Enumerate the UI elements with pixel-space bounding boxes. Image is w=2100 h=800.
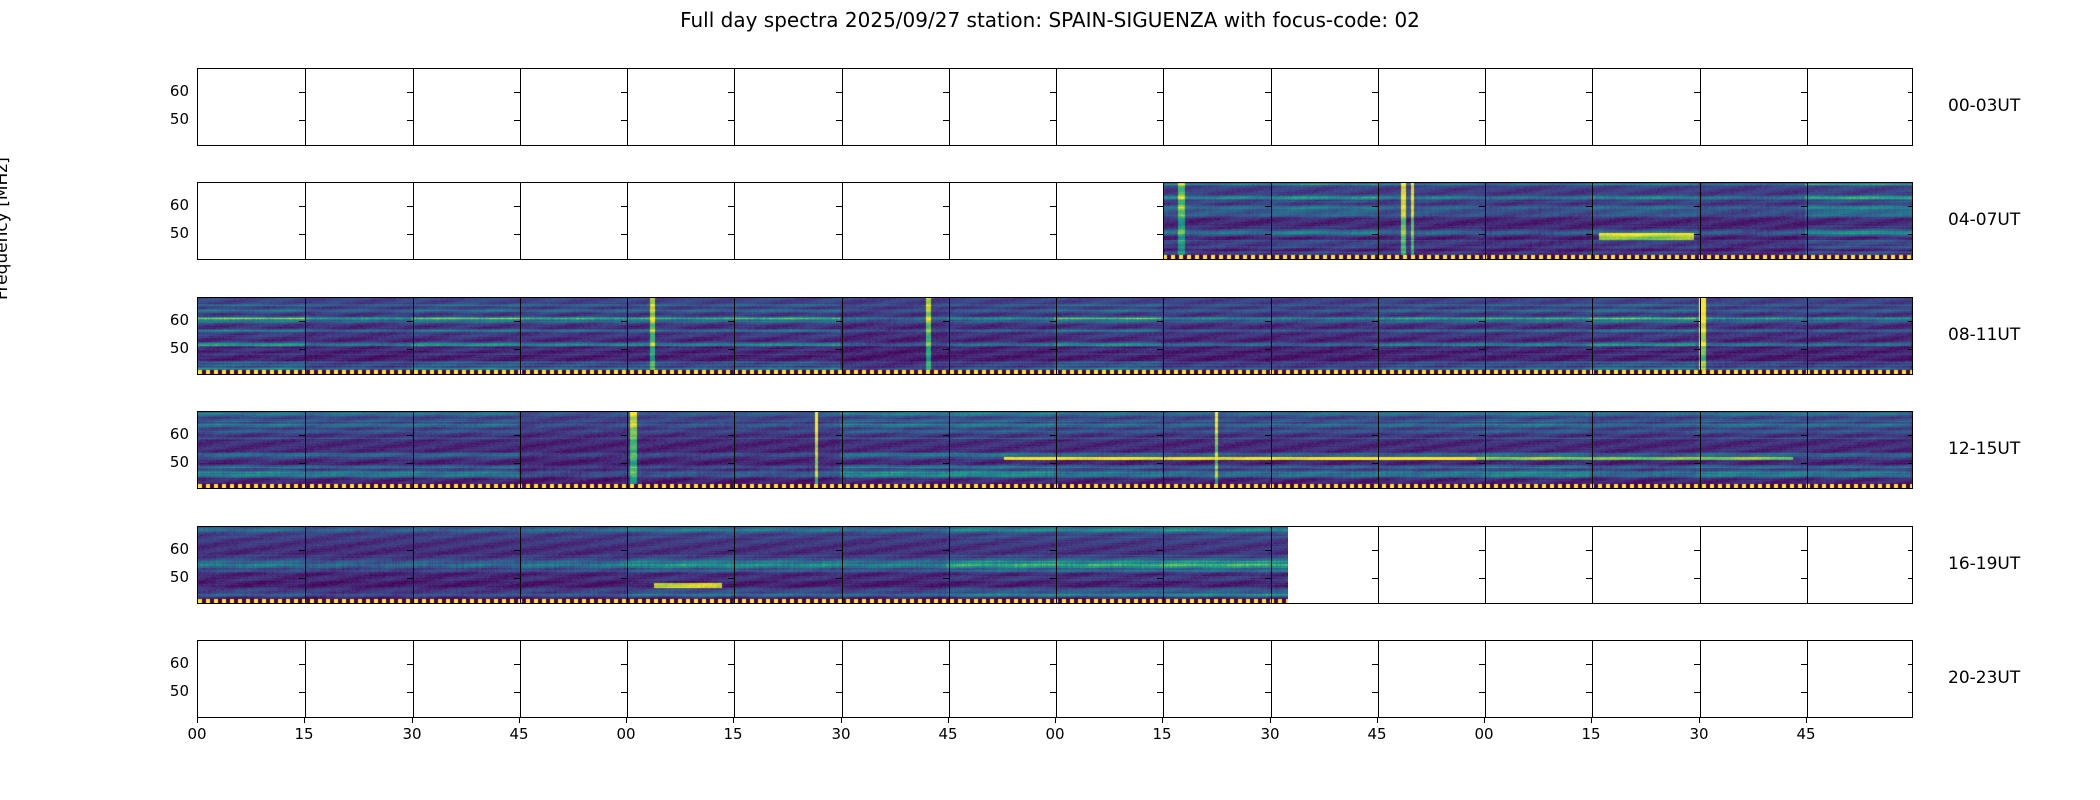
- y-tick-mark: [1694, 664, 1700, 665]
- panel-separator: [627, 641, 628, 717]
- y-axis-title: Frequency [MHz]: [0, 157, 12, 300]
- panel-separator: [1378, 183, 1379, 259]
- panel-separator: [1592, 183, 1593, 259]
- y-tick-mark: [728, 234, 734, 235]
- panel-separator: [413, 298, 414, 374]
- y-tick-mark: [621, 321, 627, 322]
- y-tick-mark: [1265, 435, 1271, 436]
- y-tick-mark: [1479, 692, 1485, 693]
- y-tick-mark: [1586, 120, 1592, 121]
- panel-separator: [1163, 527, 1164, 603]
- panel-separator: [1592, 641, 1593, 717]
- y-tick-mark: [728, 463, 734, 464]
- spectrogram-image: [1163, 183, 1913, 259]
- panel-separator: [1700, 527, 1701, 603]
- y-tick-mark: [1157, 435, 1163, 436]
- spectrogram-row-20-23ut[interactable]: [197, 640, 1913, 718]
- y-tick-mark: [407, 349, 413, 350]
- y-tick-mark: [943, 349, 949, 350]
- y-tick-mark: [836, 349, 842, 350]
- panel-separator: [305, 69, 306, 145]
- panel-separator: [949, 412, 950, 488]
- y-tick-mark: [943, 234, 949, 235]
- panel-separator: [1271, 641, 1272, 717]
- x-tick-mark: [519, 718, 520, 723]
- y-tick-mark: [1050, 664, 1056, 665]
- y-tick-mark: [836, 206, 842, 207]
- y-tick-mark: [728, 550, 734, 551]
- y-tick-mark: [621, 435, 627, 436]
- x-tick-label: 30: [1689, 725, 1708, 743]
- y-tick-mark: [1265, 206, 1271, 207]
- panel-separator: [627, 183, 628, 259]
- y-tick-mark: [943, 321, 949, 322]
- y-tick-mark: [1908, 435, 1913, 436]
- y-tick-mark: [943, 664, 949, 665]
- y-tick-mark: [299, 435, 305, 436]
- spectrogram-row-16-19ut[interactable]: [197, 526, 1913, 604]
- y-tick-mark: [299, 349, 305, 350]
- y-tick-mark: [1372, 206, 1378, 207]
- row-label-12-15ut: 12-15UT: [1948, 439, 2020, 459]
- panel-separator: [305, 183, 306, 259]
- y-tick-mark: [1050, 692, 1056, 693]
- y-tick-mark: [1586, 234, 1592, 235]
- y-tick-mark: [514, 578, 520, 579]
- y-tick-mark: [407, 664, 413, 665]
- y-tick-mark: [407, 692, 413, 693]
- y-tick-mark: [1479, 435, 1485, 436]
- y-tick-mark: [943, 578, 949, 579]
- y-tick-mark: [514, 550, 520, 551]
- panel-separator: [1271, 527, 1272, 603]
- x-tick-mark: [626, 718, 627, 723]
- panel-separator: [1807, 527, 1808, 603]
- x-tick-label: 30: [402, 725, 421, 743]
- y-tick-mark: [1050, 234, 1056, 235]
- panel-separator: [1056, 412, 1057, 488]
- y-tick-mark: [1372, 120, 1378, 121]
- x-tick-label: 30: [1260, 725, 1279, 743]
- y-tick-mark: [1050, 578, 1056, 579]
- panel-separator: [734, 183, 735, 259]
- spectrogram-row-00-03ut[interactable]: [197, 68, 1913, 146]
- y-tick-mark: [1265, 578, 1271, 579]
- y-tick-mark: [1265, 92, 1271, 93]
- y-tick-mark: [1586, 664, 1592, 665]
- y-tick-mark: [728, 664, 734, 665]
- y-tick-mark: [728, 692, 734, 693]
- panel-separator: [842, 183, 843, 259]
- y-tick-mark: [728, 321, 734, 322]
- panel-separator: [842, 527, 843, 603]
- y-tick-mark: [621, 206, 627, 207]
- y-tick-mark: [1694, 435, 1700, 436]
- x-axis: 00153045001530450015304500153045: [197, 718, 1913, 768]
- panel-separator: [520, 298, 521, 374]
- panel-separator: [1378, 298, 1379, 374]
- y-tick-mark: [621, 92, 627, 93]
- y-tick-mark: [1908, 234, 1913, 235]
- y-tick-mark: [514, 321, 520, 322]
- panel-separator: [1163, 69, 1164, 145]
- x-tick-mark: [1055, 718, 1056, 723]
- panel-separator: [305, 527, 306, 603]
- x-tick-label: 30: [831, 725, 850, 743]
- y-tick-mark: [407, 92, 413, 93]
- x-tick-label: 15: [294, 725, 313, 743]
- panel-separator: [1378, 641, 1379, 717]
- y-tick-mark: [1694, 349, 1700, 350]
- y-tick-mark: [943, 206, 949, 207]
- y-tick-mark: [514, 92, 520, 93]
- y-tick-mark: [1157, 578, 1163, 579]
- panel-separator: [627, 412, 628, 488]
- y-tick-label: 50: [157, 224, 189, 242]
- y-tick-mark: [1586, 550, 1592, 551]
- panel-separator: [1807, 183, 1808, 259]
- y-tick-mark: [407, 435, 413, 436]
- panel-separator: [413, 412, 414, 488]
- y-tick-mark: [1694, 234, 1700, 235]
- y-tick-mark: [1372, 349, 1378, 350]
- y-tick-mark: [407, 578, 413, 579]
- y-tick-mark: [1479, 664, 1485, 665]
- panel-separator: [734, 641, 735, 717]
- panel-separator: [1163, 412, 1164, 488]
- y-tick-mark: [1801, 349, 1807, 350]
- y-tick-mark: [943, 550, 949, 551]
- x-tick-label: 00: [616, 725, 635, 743]
- y-tick-mark: [1586, 321, 1592, 322]
- y-tick-mark: [1586, 578, 1592, 579]
- x-tick-mark: [841, 718, 842, 723]
- y-tick-mark: [1801, 435, 1807, 436]
- y-tick-label: 50: [157, 682, 189, 700]
- spectrogram-row-08-11ut[interactable]: [197, 297, 1913, 375]
- x-tick-label: 00: [1474, 725, 1493, 743]
- y-tick-mark: [621, 463, 627, 464]
- panel-separator: [949, 69, 950, 145]
- panel-separator: [734, 69, 735, 145]
- y-tick-mark: [621, 692, 627, 693]
- y-tick-mark: [1801, 321, 1807, 322]
- spectrogram-row-04-07ut[interactable]: [197, 182, 1913, 260]
- y-tick-mark: [1801, 578, 1807, 579]
- y-tick-mark: [621, 120, 627, 121]
- panel-separator: [734, 298, 735, 374]
- y-tick-mark: [1372, 321, 1378, 322]
- y-tick-mark: [1694, 321, 1700, 322]
- y-tick-mark: [1801, 234, 1807, 235]
- y-tick-mark: [1801, 463, 1807, 464]
- y-tick-mark: [299, 550, 305, 551]
- y-tick-mark: [299, 664, 305, 665]
- y-tick-mark: [1050, 349, 1056, 350]
- panel-separator: [842, 412, 843, 488]
- panel-separator: [305, 298, 306, 374]
- y-tick-mark: [1157, 92, 1163, 93]
- y-tick-mark: [1050, 435, 1056, 436]
- panel-separator: [520, 183, 521, 259]
- y-tick-mark: [943, 435, 949, 436]
- y-tick-mark: [1157, 321, 1163, 322]
- x-tick-mark: [1591, 718, 1592, 723]
- y-tick-label: 60: [157, 654, 189, 672]
- x-tick-label: 00: [187, 725, 206, 743]
- y-tick-mark: [1694, 692, 1700, 693]
- y-tick-mark: [299, 463, 305, 464]
- x-tick-mark: [1377, 718, 1378, 723]
- y-tick-mark: [407, 463, 413, 464]
- panel-separator: [1700, 69, 1701, 145]
- y-tick-mark: [514, 435, 520, 436]
- y-tick-mark: [728, 92, 734, 93]
- y-tick-mark: [1372, 92, 1378, 93]
- figure-root: Full day spectra 2025/09/27 station: SPA…: [0, 0, 2100, 800]
- x-tick-mark: [1806, 718, 1807, 723]
- y-tick-mark: [836, 692, 842, 693]
- y-tick-mark: [1908, 550, 1913, 551]
- y-tick-mark: [836, 664, 842, 665]
- y-tick-mark: [1050, 550, 1056, 551]
- y-tick-mark: [514, 206, 520, 207]
- y-tick-mark: [299, 321, 305, 322]
- y-tick-mark: [728, 120, 734, 121]
- y-tick-mark: [943, 120, 949, 121]
- y-tick-mark: [836, 578, 842, 579]
- y-tick-mark: [836, 550, 842, 551]
- panel-separator: [1271, 69, 1272, 145]
- y-tick-mark: [1586, 92, 1592, 93]
- y-tick-mark: [1801, 550, 1807, 551]
- panel-separator: [734, 527, 735, 603]
- y-tick-mark: [1372, 664, 1378, 665]
- y-tick-mark: [299, 578, 305, 579]
- y-tick-mark: [1479, 321, 1485, 322]
- y-tick-mark: [1265, 321, 1271, 322]
- y-tick-mark: [836, 92, 842, 93]
- y-tick-mark: [514, 664, 520, 665]
- panel-separator: [627, 298, 628, 374]
- y-tick-mark: [1157, 349, 1163, 350]
- y-tick-mark: [1372, 578, 1378, 579]
- y-tick-mark: [1157, 463, 1163, 464]
- x-tick-label: 15: [723, 725, 742, 743]
- y-tick-mark: [1050, 206, 1056, 207]
- x-tick-mark: [733, 718, 734, 723]
- y-tick-label: 50: [157, 339, 189, 357]
- y-tick-mark: [621, 550, 627, 551]
- row-label-04-07ut: 04-07UT: [1948, 210, 2020, 230]
- x-tick-mark: [412, 718, 413, 723]
- panel-separator: [413, 527, 414, 603]
- x-tick-mark: [1699, 718, 1700, 723]
- panel-separator: [1163, 183, 1164, 259]
- y-tick-mark: [1908, 120, 1913, 121]
- panel-separator: [1271, 412, 1272, 488]
- y-tick-mark: [943, 92, 949, 93]
- y-tick-label: 50: [157, 453, 189, 471]
- y-tick-mark: [1908, 349, 1913, 350]
- y-tick-mark: [943, 463, 949, 464]
- panel-separator: [1592, 412, 1593, 488]
- y-tick-mark: [407, 550, 413, 551]
- y-tick-mark: [1694, 92, 1700, 93]
- y-tick-mark: [1908, 463, 1913, 464]
- y-tick-mark: [1908, 321, 1913, 322]
- panel-separator: [520, 69, 521, 145]
- plot-area: [197, 68, 1913, 718]
- y-tick-mark: [1801, 120, 1807, 121]
- y-tick-mark: [1801, 664, 1807, 665]
- y-tick-mark: [1157, 664, 1163, 665]
- y-tick-mark: [1479, 92, 1485, 93]
- y-tick-mark: [621, 578, 627, 579]
- y-tick-mark: [1050, 92, 1056, 93]
- y-tick-mark: [1801, 92, 1807, 93]
- figure-title: Full day spectra 2025/09/27 station: SPA…: [0, 8, 2100, 32]
- y-tick-mark: [1908, 664, 1913, 665]
- y-tick-mark: [836, 321, 842, 322]
- panel-separator: [627, 527, 628, 603]
- y-tick-mark: [1479, 550, 1485, 551]
- y-tick-mark: [1050, 321, 1056, 322]
- panel-separator: [520, 412, 521, 488]
- row-label-16-19ut: 16-19UT: [1948, 554, 2020, 574]
- y-tick-mark: [1265, 550, 1271, 551]
- y-tick-mark: [1908, 578, 1913, 579]
- y-tick-mark: [514, 463, 520, 464]
- x-tick-label: 15: [1581, 725, 1600, 743]
- y-tick-mark: [1694, 206, 1700, 207]
- y-tick-mark: [407, 321, 413, 322]
- y-tick-mark: [1479, 463, 1485, 464]
- y-tick-mark: [1479, 234, 1485, 235]
- y-tick-mark: [1694, 120, 1700, 121]
- y-tick-mark: [1908, 92, 1913, 93]
- y-tick-mark: [728, 435, 734, 436]
- y-tick-mark: [1479, 120, 1485, 121]
- y-tick-mark: [1265, 120, 1271, 121]
- y-tick-mark: [1586, 206, 1592, 207]
- y-tick-mark: [1586, 463, 1592, 464]
- y-tick-mark: [514, 120, 520, 121]
- y-tick-mark: [1050, 120, 1056, 121]
- panel-separator: [734, 412, 735, 488]
- x-tick-label: 45: [509, 725, 528, 743]
- y-tick-label: 50: [157, 110, 189, 128]
- y-tick-label: 60: [157, 196, 189, 214]
- panel-separator: [1163, 641, 1164, 717]
- panel-separator: [1378, 527, 1379, 603]
- panel-separator: [1056, 183, 1057, 259]
- panel-separator: [1807, 69, 1808, 145]
- panel-separator: [949, 641, 950, 717]
- x-tick-mark: [1162, 718, 1163, 723]
- y-tick-label: 60: [157, 540, 189, 558]
- y-tick-mark: [1801, 206, 1807, 207]
- y-tick-mark: [1694, 578, 1700, 579]
- panel-separator: [949, 298, 950, 374]
- panel-separator: [1592, 298, 1593, 374]
- panel-separator: [413, 183, 414, 259]
- y-tick-label: 60: [157, 425, 189, 443]
- y-tick-mark: [1265, 463, 1271, 464]
- y-tick-mark: [836, 120, 842, 121]
- panel-separator: [1807, 412, 1808, 488]
- y-tick-mark: [836, 463, 842, 464]
- spectrogram-row-12-15ut[interactable]: [197, 411, 1913, 489]
- y-tick-mark: [943, 692, 949, 693]
- y-tick-mark: [1908, 206, 1913, 207]
- y-tick-mark: [514, 692, 520, 693]
- panel-separator: [1163, 298, 1164, 374]
- x-tick-mark: [197, 718, 198, 723]
- panel-separator: [1378, 412, 1379, 488]
- y-tick-mark: [1372, 463, 1378, 464]
- y-tick-mark: [407, 234, 413, 235]
- panel-separator: [305, 641, 306, 717]
- y-tick-mark: [299, 206, 305, 207]
- panel-separator: [413, 641, 414, 717]
- panel-separator: [305, 412, 306, 488]
- y-tick-mark: [621, 234, 627, 235]
- panel-separator: [1056, 298, 1057, 374]
- y-tick-mark: [1265, 664, 1271, 665]
- y-tick-mark: [299, 234, 305, 235]
- panel-separator: [1807, 298, 1808, 374]
- y-tick-label: 60: [157, 311, 189, 329]
- panel-separator: [1807, 641, 1808, 717]
- y-tick-mark: [728, 349, 734, 350]
- x-tick-mark: [304, 718, 305, 723]
- y-tick-mark: [299, 92, 305, 93]
- y-tick-mark: [1372, 435, 1378, 436]
- y-tick-mark: [1479, 206, 1485, 207]
- y-tick-mark: [1694, 463, 1700, 464]
- spectrogram-image: [198, 527, 1288, 603]
- y-tick-mark: [514, 349, 520, 350]
- y-tick-mark: [1265, 349, 1271, 350]
- panel-separator: [1485, 69, 1486, 145]
- panel-separator: [1700, 412, 1701, 488]
- y-tick-mark: [514, 234, 520, 235]
- x-tick-label: 45: [1367, 725, 1386, 743]
- panel-separator: [1592, 69, 1593, 145]
- y-tick-mark: [1908, 692, 1913, 693]
- panel-separator: [949, 527, 950, 603]
- panel-separator: [1056, 527, 1057, 603]
- panel-separator: [413, 69, 414, 145]
- y-tick-mark: [1157, 550, 1163, 551]
- panel-separator: [1592, 527, 1593, 603]
- y-tick-mark: [728, 578, 734, 579]
- panel-separator: [1056, 69, 1057, 145]
- y-tick-mark: [1586, 435, 1592, 436]
- y-tick-mark: [621, 349, 627, 350]
- panel-separator: [1378, 69, 1379, 145]
- y-tick-mark: [1586, 349, 1592, 350]
- row-label-20-23ut: 20-23UT: [1948, 668, 2020, 688]
- y-tick-mark: [407, 206, 413, 207]
- panel-separator: [1485, 527, 1486, 603]
- x-tick-label: 15: [1152, 725, 1171, 743]
- y-tick-mark: [1157, 206, 1163, 207]
- panel-separator: [1485, 412, 1486, 488]
- y-tick-mark: [836, 234, 842, 235]
- panel-separator: [842, 298, 843, 374]
